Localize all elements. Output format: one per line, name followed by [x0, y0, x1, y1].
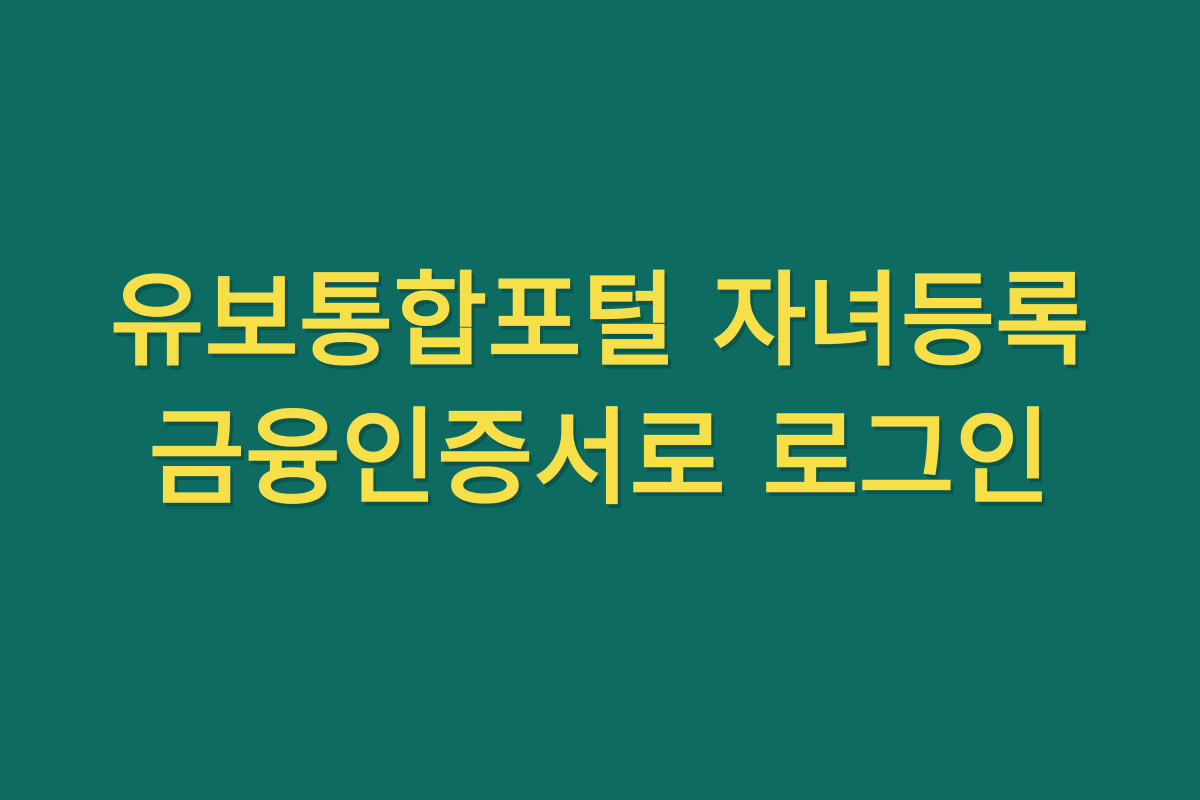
headline-line-2: 금융인증서로 로그인: [40, 397, 1160, 520]
banner-canvas: 유보통합포털 자녀등록 금융인증서로 로그인: [0, 0, 1200, 800]
headline-line-1: 유보통합포털 자녀등록: [40, 262, 1160, 382]
headline-block: 유보통합포털 자녀등록 금융인증서로 로그인: [0, 262, 1200, 519]
